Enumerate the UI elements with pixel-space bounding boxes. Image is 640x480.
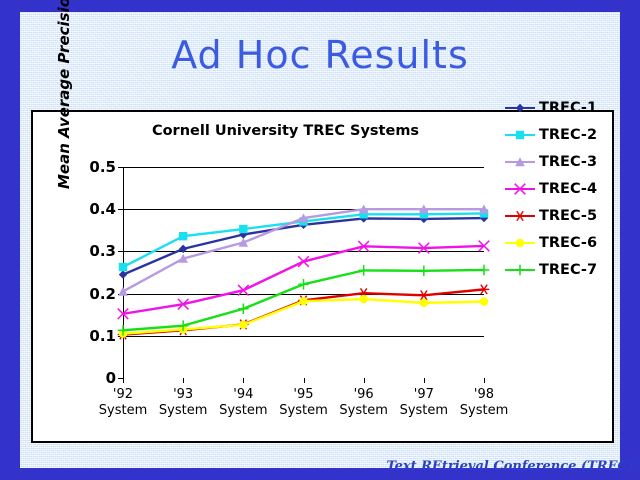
data-point-circle: [239, 321, 247, 329]
y-tick-label: 0.1: [89, 327, 116, 345]
data-point-triangle: [515, 157, 525, 166]
slide-footer: Text REtrieval Conference (TREC): [0, 459, 634, 474]
data-point-circle: [480, 297, 488, 305]
data-point-diamond: [516, 103, 524, 111]
data-point-circle: [359, 295, 367, 303]
x-tick-label-line: '98: [460, 387, 508, 403]
legend-item-trec-1[interactable]: TREC-1: [505, 94, 610, 121]
chart-title: Cornell University TREC Systems: [33, 123, 538, 139]
y-tick-label: 0.5: [89, 158, 116, 176]
legend-label: TREC-1: [539, 100, 597, 116]
legend-label: TREC-2: [539, 127, 597, 143]
x-tick-label-line: System: [400, 403, 448, 419]
legend-item-trec-7[interactable]: TREC-7: [505, 256, 610, 283]
data-point-plus: [298, 279, 309, 290]
data-point-plus: [419, 266, 430, 277]
x-tick-label-line: System: [159, 403, 207, 419]
x-tick-mark: [243, 378, 244, 383]
legend-label: TREC-6: [539, 235, 597, 251]
data-point-square: [516, 130, 524, 138]
legend-swatch-triangle-icon: [505, 155, 535, 169]
legend-marker-diamond-icon: [514, 102, 526, 114]
legend-swatch-circle-icon: [505, 236, 535, 250]
data-point-square: [119, 263, 127, 271]
legend-swatch-square-icon: [505, 128, 535, 142]
data-point-asterisk: [515, 211, 526, 221]
data-point-plus: [515, 264, 526, 275]
legend-swatch-plus-icon: [505, 263, 535, 277]
legend-swatch-x-icon: [505, 182, 535, 196]
legend-item-trec-4[interactable]: TREC-4: [505, 175, 610, 202]
data-point-circle: [299, 297, 307, 305]
x-tick-label: '92System: [99, 387, 147, 419]
legend-marker-triangle-icon: [514, 156, 526, 168]
legend-label: TREC-3: [539, 154, 597, 170]
legend-marker-plus-icon: [514, 264, 526, 276]
x-tick-label-line: '92: [99, 387, 147, 403]
x-tick-mark: [304, 378, 305, 383]
x-tick-mark: [123, 378, 124, 383]
x-tick-label-line: System: [219, 403, 267, 419]
x-tick-label: '96System: [339, 387, 387, 419]
data-point-square: [179, 232, 187, 240]
y-axis-label: Mean Average Precision: [55, 19, 73, 189]
legend-item-trec-2[interactable]: TREC-2: [505, 121, 610, 148]
slide-title: Ad Hoc Results: [0, 33, 640, 77]
legend-item-trec-5[interactable]: TREC-5: [505, 202, 610, 229]
data-point-square: [239, 225, 247, 233]
x-tick-mark: [484, 378, 485, 383]
x-tick-label-line: '97: [400, 387, 448, 403]
data-point-circle: [516, 238, 524, 246]
series-layer: [123, 167, 484, 378]
data-point-diamond: [119, 270, 127, 278]
y-tick-label: 0: [106, 369, 116, 387]
x-tick-label-line: System: [460, 403, 508, 419]
x-tick-label-line: '95: [279, 387, 327, 403]
x-tick-mark: [364, 378, 365, 383]
legend-item-trec-3[interactable]: TREC-3: [505, 148, 610, 175]
x-tick-label-line: System: [279, 403, 327, 419]
legend-marker-asterisk-icon: [514, 210, 526, 222]
data-point-plus: [238, 303, 249, 314]
x-tick-label-line: System: [339, 403, 387, 419]
data-point-asterisk: [479, 285, 490, 295]
x-tick-label: '95System: [279, 387, 327, 419]
x-tick-label-line: '93: [159, 387, 207, 403]
x-tick-label: '97System: [400, 387, 448, 419]
data-point-circle: [420, 299, 428, 307]
legend-item-trec-6[interactable]: TREC-6: [505, 229, 610, 256]
x-tick-label-line: System: [99, 403, 147, 419]
x-tick-label: '93System: [159, 387, 207, 419]
x-tick-label: '98System: [460, 387, 508, 419]
y-tick-label: 0.4: [89, 200, 116, 218]
chart-legend: TREC-1TREC-2TREC-3TREC-4TREC-5TREC-6TREC…: [505, 94, 610, 283]
x-tick-mark: [183, 378, 184, 383]
legend-label: TREC-7: [539, 262, 597, 278]
data-point-triangle: [118, 287, 128, 296]
y-tick-label: 0.3: [89, 242, 116, 260]
data-point-plus: [358, 265, 369, 276]
x-tick-label: '94System: [219, 387, 267, 419]
legend-label: TREC-4: [539, 181, 597, 197]
x-tick-mark: [424, 378, 425, 383]
data-point-diamond: [179, 245, 187, 253]
legend-label: TREC-5: [539, 208, 597, 224]
data-point-plus: [479, 265, 490, 276]
legend-swatch-asterisk-icon: [505, 209, 535, 223]
x-tick-label-line: '94: [219, 387, 267, 403]
y-tick-label: 0.2: [89, 285, 116, 303]
series-line: [123, 289, 484, 334]
data-point-x: [515, 183, 526, 194]
legend-swatch-diamond-icon: [505, 101, 535, 115]
legend-marker-square-icon: [514, 129, 526, 141]
x-tick-label-line: '96: [339, 387, 387, 403]
data-point-asterisk: [419, 291, 430, 301]
legend-marker-x-icon: [514, 183, 526, 195]
legend-marker-circle-icon: [514, 237, 526, 249]
plot-area: Mean Average Precision 00.10.20.30.40.5 …: [123, 167, 484, 378]
